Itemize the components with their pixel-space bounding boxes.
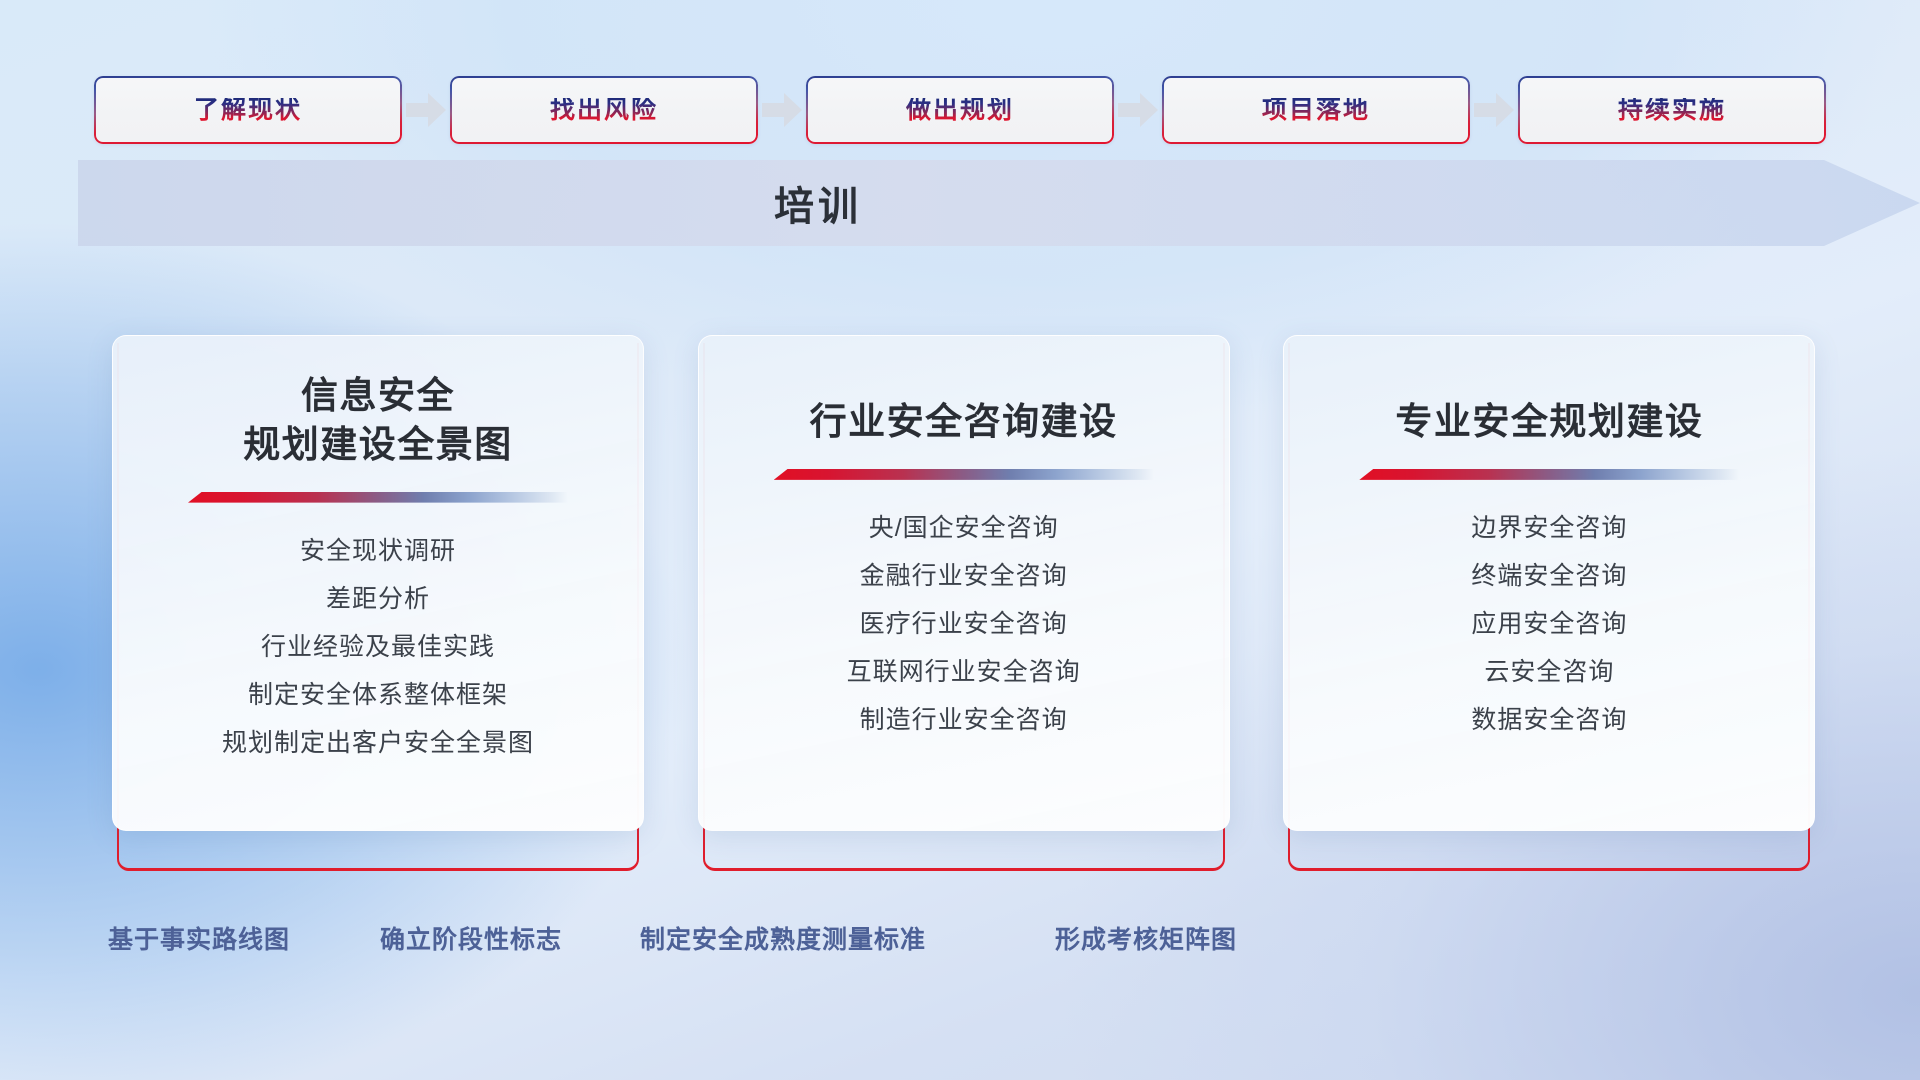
list-item: 差距分析 bbox=[326, 579, 430, 620]
step-chip-1[interactable]: 了解现状 bbox=[94, 76, 402, 144]
card-list: 安全现状调研 差距分析 行业经验及最佳实践 制定安全体系整体框架 规划制定出客户… bbox=[113, 531, 643, 764]
step-chip-2[interactable]: 找出风险 bbox=[450, 76, 758, 144]
card-title: 行业安全咨询建设 bbox=[699, 398, 1229, 447]
list-item: 制造行业安全咨询 bbox=[860, 700, 1068, 741]
card-2[interactable]: 行业安全咨询建设 央/国企安全咨询 金融行业安全咨询 医疗行业安全咨询 互联网行… bbox=[698, 335, 1227, 875]
card-divider bbox=[188, 492, 568, 503]
card-3[interactable]: 专业安全规划建设 边界安全咨询 终端安全咨询 应用安全咨询 云安全咨询 数据安全… bbox=[1283, 335, 1812, 875]
card-list: 央/国企安全咨询 金融行业安全咨询 医疗行业安全咨询 互联网行业安全咨询 制造行… bbox=[699, 508, 1229, 741]
step-chip-label: 做出规划 bbox=[906, 98, 1014, 123]
list-item: 行业经验及最佳实践 bbox=[261, 627, 495, 668]
training-banner: 培训 bbox=[78, 160, 1920, 246]
list-item: 金融行业安全咨询 bbox=[860, 556, 1068, 597]
card-divider bbox=[1359, 469, 1739, 480]
card-1[interactable]: 信息安全 规划建设全景图 安全现状调研 差距分析 行业经验及最佳实践 制定安全体… bbox=[112, 335, 641, 875]
caption-1: 基于事实路线图 bbox=[108, 920, 290, 956]
card-panel: 专业安全规划建设 边界安全咨询 终端安全咨询 应用安全咨询 云安全咨询 数据安全… bbox=[1283, 335, 1815, 831]
list-item: 央/国企安全咨询 bbox=[869, 508, 1059, 549]
caption-row: 基于事实路线图 确立阶段性标志 制定安全成熟度测量标准 形成考核矩阵图 bbox=[0, 920, 1920, 970]
step-chip-5[interactable]: 持续实施 bbox=[1518, 76, 1826, 144]
card-panel: 行业安全咨询建设 央/国企安全咨询 金融行业安全咨询 医疗行业安全咨询 互联网行… bbox=[698, 335, 1230, 831]
list-item: 制定安全体系整体框架 bbox=[248, 675, 508, 716]
arrow-right-icon bbox=[402, 88, 450, 132]
step-chip-label: 了解现状 bbox=[194, 98, 302, 123]
step-chip-label: 项目落地 bbox=[1262, 98, 1370, 123]
list-item: 数据安全咨询 bbox=[1471, 700, 1627, 741]
card-title: 信息安全 规划建设全景图 bbox=[113, 372, 643, 470]
list-item: 医疗行业安全咨询 bbox=[860, 604, 1068, 645]
list-item: 规划制定出客户安全全景图 bbox=[222, 723, 534, 764]
list-item: 边界安全咨询 bbox=[1471, 508, 1627, 549]
list-item: 云安全咨询 bbox=[1484, 652, 1614, 693]
card-row: 信息安全 规划建设全景图 安全现状调研 差距分析 行业经验及最佳实践 制定安全体… bbox=[112, 335, 1812, 875]
arrow-right-icon bbox=[1470, 88, 1518, 132]
caption-3: 制定安全成熟度测量标准 bbox=[640, 920, 926, 956]
step-chip-3[interactable]: 做出规划 bbox=[806, 76, 1114, 144]
card-title: 专业安全规划建设 bbox=[1284, 398, 1814, 447]
banner-title: 培训 bbox=[78, 160, 1558, 246]
card-panel: 信息安全 规划建设全景图 安全现状调研 差距分析 行业经验及最佳实践 制定安全体… bbox=[112, 335, 644, 831]
list-item: 应用安全咨询 bbox=[1471, 604, 1627, 645]
step-chip-4[interactable]: 项目落地 bbox=[1162, 76, 1470, 144]
step-chip-label: 找出风险 bbox=[550, 98, 658, 123]
list-item: 终端安全咨询 bbox=[1471, 556, 1627, 597]
step-chip-label: 持续实施 bbox=[1618, 98, 1726, 123]
caption-4: 形成考核矩阵图 bbox=[1055, 920, 1237, 956]
process-step-row: 了解现状 找出风险 做出规划 项目落地 bbox=[0, 74, 1920, 146]
card-divider bbox=[774, 469, 1154, 480]
arrow-right-icon bbox=[1114, 88, 1162, 132]
arrow-right-icon bbox=[758, 88, 806, 132]
slide-canvas: 了解现状 找出风险 做出规划 项目落地 bbox=[0, 0, 1920, 1080]
list-item: 安全现状调研 bbox=[300, 531, 456, 572]
caption-2: 确立阶段性标志 bbox=[380, 920, 562, 956]
card-list: 边界安全咨询 终端安全咨询 应用安全咨询 云安全咨询 数据安全咨询 bbox=[1284, 508, 1814, 741]
list-item: 互联网行业安全咨询 bbox=[847, 652, 1081, 693]
